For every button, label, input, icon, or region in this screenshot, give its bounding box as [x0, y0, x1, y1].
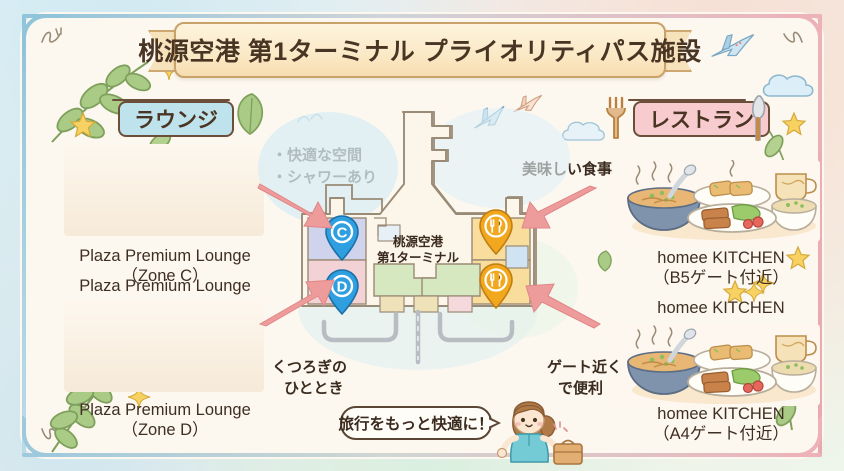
restaurant-name-a4b: homee KITCHEN: [610, 404, 832, 424]
mascot-bubble-text: 旅行をもっと快適に！: [339, 412, 494, 434]
lounge-image-zone-c: Plaza Premium Lounge: [64, 144, 264, 236]
section-chip-lounge: ラウンジ: [118, 101, 234, 137]
restaurant-image-a4: [620, 324, 820, 406]
lounge-name-d-top: Plaza Premium Lounge: [54, 276, 276, 296]
arrow-to-restaurant-b5-icon: [520, 186, 600, 240]
restaurant-name-b5: homee KITCHEN: [610, 248, 832, 268]
mascot-traveler-illustration: [496, 388, 584, 464]
restaurant-name-a4-top: homee KITCHEN: [610, 298, 832, 318]
restaurant-footnote-line1: ゲート近く: [547, 358, 622, 378]
restaurant-illustration-a4: [620, 324, 820, 406]
title-ribbon: 桃源空港 第1ターミナル プライオリティパス施設: [150, 22, 690, 74]
star-icon-right: [782, 112, 806, 136]
corner-doodle-topright-icon: [778, 26, 804, 48]
poster-root: 桃源空港 第1ターミナル プライオリティパス施設 ラウンジ レストラン: [0, 0, 844, 471]
restaurant-caption-a4: homee KITCHEN （A4ゲート付近）: [610, 404, 832, 444]
arrow-to-restaurant-a4-icon: [520, 270, 604, 328]
lounge-name-d: Plaza Premium Lounge: [54, 276, 276, 296]
leaf-single-icon: [230, 92, 270, 136]
fork-icon: [604, 96, 630, 140]
map-center-label-1: 桃源空港: [393, 234, 444, 249]
map-center-label-2: 第1ターミナル: [377, 250, 459, 265]
lounge-footnote-line1: くつろぎの: [272, 358, 347, 378]
knife-icon: [748, 94, 770, 142]
restaurant-caption-b5: homee KITCHEN （B5ゲート付近）: [610, 248, 832, 288]
page-title: 桃源空港 第1ターミナル プライオリティパス施設: [138, 32, 701, 68]
arrow-to-lounge-c-icon: [258, 182, 348, 242]
arrow-to-lounge-d-icon: [256, 266, 346, 328]
ribbon-body: 桃源空港 第1ターミナル プライオリティパス施設: [174, 22, 666, 78]
lounge-sub-d: （Zone D）: [54, 420, 276, 440]
lounge-caption-zone-d: Plaza Premium Lounge （Zone D）: [54, 400, 276, 440]
restaurant-illustration-b5: [620, 160, 820, 242]
restaurant-sub-a4: （A4ゲート付近）: [610, 424, 832, 444]
lounge-footnote-line2: ひととき: [284, 379, 344, 399]
terminal-map: 桃源空港 第1ターミナル C D: [268, 98, 568, 378]
lounge-name-d2: Plaza Premium Lounge: [54, 400, 276, 420]
restaurant-image-b5: [620, 160, 820, 242]
lounge-name-c: Plaza Premium Lounge: [54, 246, 276, 266]
lounge-image-zone-d: [64, 300, 264, 392]
restaurant-name-a4: homee KITCHEN: [610, 298, 832, 318]
mascot-speech-bubble: 旅行をもっと快適に！: [340, 406, 492, 440]
airplane-icon-3: [707, 30, 759, 64]
star-icon: [70, 112, 96, 138]
restaurant-sub-b5: （B5ゲート付近）: [610, 268, 832, 288]
